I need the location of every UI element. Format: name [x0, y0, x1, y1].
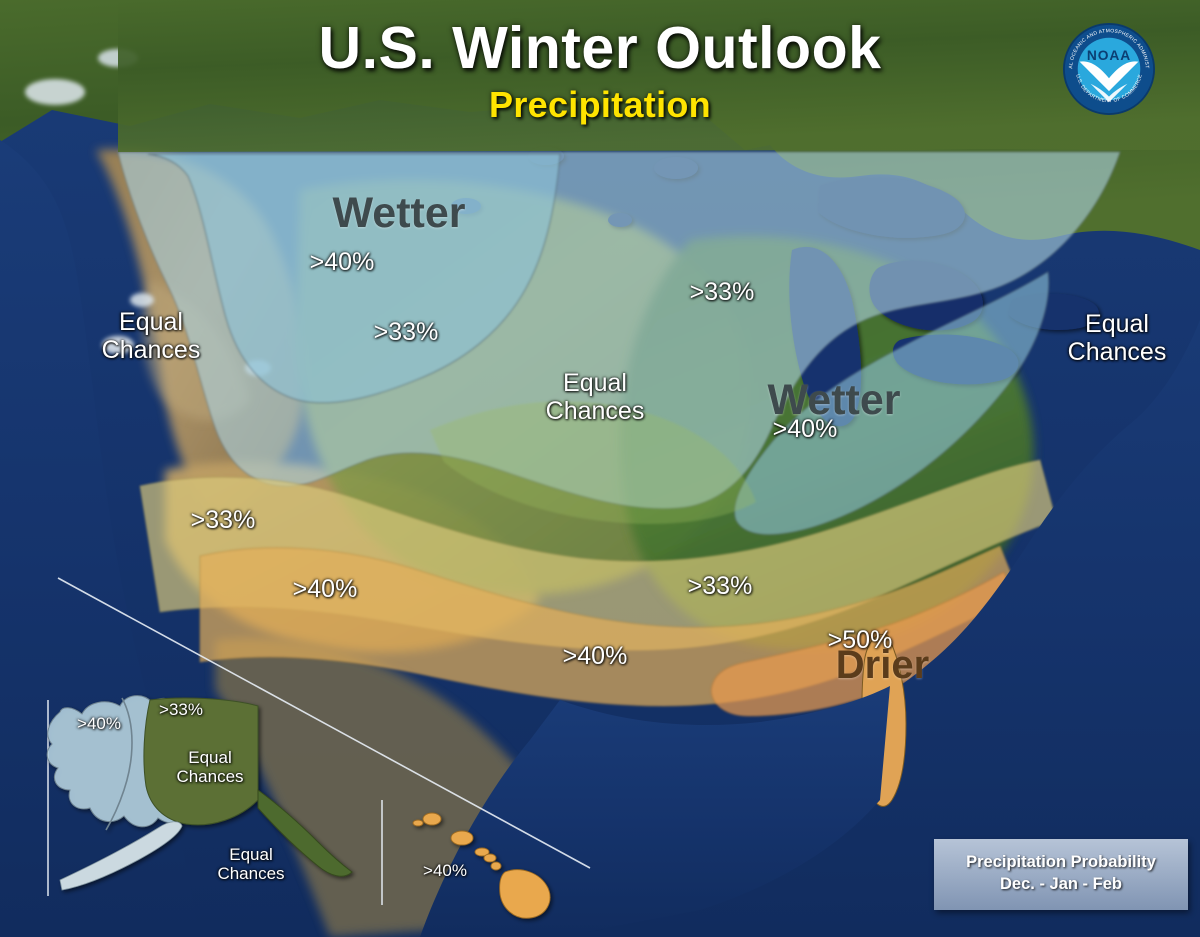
noaa-logo-wordmark: NOAA	[1087, 48, 1131, 63]
hawaii-inset	[0, 0, 1200, 937]
legend-box: Precipitation Probability Dec. - Jan - F…	[934, 839, 1188, 910]
legend-line-1: Precipitation Probability	[942, 851, 1180, 873]
hawaii-islands	[413, 813, 550, 918]
noaa-logo: NOAA NATIONAL OCEANIC AND ATMOSPHERIC AD…	[1063, 23, 1155, 115]
winter-outlook-map: Wetter>40%>33%>33%Wetter>40%Equal Chance…	[0, 0, 1200, 937]
legend-line-2: Dec. - Jan - Feb	[942, 873, 1180, 895]
